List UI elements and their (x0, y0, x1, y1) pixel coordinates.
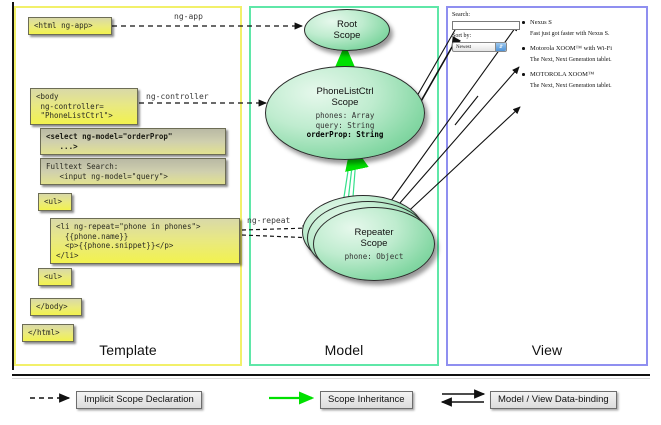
scope-phonelistctrl-props: phones: Array query: String (316, 111, 375, 130)
code-html-close-tag: </html> (22, 324, 74, 342)
bullet-icon (522, 47, 525, 50)
code-html-open-tag: <html ng-app> (28, 17, 112, 35)
phone-name: Motorola XOOM™ with Wi-Fi (522, 44, 642, 53)
scope-repeater: Repeater Scope phone: Object (313, 207, 435, 281)
scope-phonelistctrl: PhoneListCtrl Scope phones: Array query:… (265, 66, 425, 160)
phone-list: Nexus S Fast just got faster with Nexus … (522, 18, 642, 96)
code-ul-open-tag: <ul> (38, 193, 72, 211)
phone-name: Nexus S (522, 18, 642, 27)
search-input[interactable] (452, 21, 520, 30)
list-item: Motorola XOOM™ with Wi-Fi The Next, Next… (522, 44, 642, 64)
sort-by-select[interactable]: Newest ⇵ (452, 42, 507, 52)
scope-repeater-title: Repeater Scope (354, 227, 393, 249)
scope-repeater-props: phone: Object (345, 252, 404, 262)
scope-phonelistctrl-title: PhoneListCtrl Scope (316, 86, 373, 108)
legend-separator-rule-shadow (12, 378, 650, 379)
scope-root-title: Root Scope (334, 19, 361, 41)
bullet-icon (522, 73, 525, 76)
diagram-canvas: Template Model View (0, 0, 661, 425)
legend-label-model-view-data-binding: Model / View Data-binding (490, 391, 617, 409)
code-fulltext-search: Fulltext Search: <input ng-model="query"… (40, 158, 226, 185)
list-item: Nexus S Fast just got faster with Nexus … (522, 18, 642, 38)
phone-snippet: The Next, Next Generation tablet. (522, 82, 642, 90)
chevron-updown-icon: ⇵ (495, 43, 506, 51)
arrow-ng-repeat-a (242, 228, 309, 230)
sort-by-selected-value: Newest (456, 45, 471, 50)
legend-label-implicit-scope-declaration: Implicit Scope Declaration (76, 391, 202, 409)
code-body-controller-tag: <body ng-controller= "PhoneListCtrl"> (30, 88, 138, 125)
list-item: MOTOROLA XOOM™ The Next, Next Generation… (522, 70, 642, 90)
label-ng-controller: ng-controller (146, 92, 209, 101)
label-ng-repeat: ng-repeat (247, 216, 290, 225)
sort-by-label: Sort by: (452, 33, 471, 39)
legend-label-scope-inheritance: Scope Inheritance (320, 391, 413, 409)
label-ng-app: ng-app (174, 12, 203, 21)
phone-name: MOTOROLA XOOM™ (522, 70, 642, 79)
phone-snippet: Fast just got faster with Nexus S. (522, 30, 642, 38)
code-li-ng-repeat: <li ng-repeat="phone in phones"> {{phone… (50, 218, 240, 264)
code-select-orderprop: <select ng-model="orderProp" ...> (40, 128, 226, 155)
bullet-icon (522, 21, 525, 24)
search-label: Search: (452, 12, 470, 18)
view-rendered-app: Search: Sort by: Newest ⇵ Nexus S Fast j… (452, 12, 642, 122)
scope-phonelistctrl-props-bold: orderProp: String (307, 130, 384, 140)
legend-separator-rule (12, 374, 650, 376)
phone-snippet: The Next, Next Generation tablet. (522, 56, 642, 64)
code-body-close-tag: </body> (30, 298, 82, 316)
code-ul-close-tag: <ul> (38, 268, 72, 286)
scope-root: Root Scope (304, 9, 390, 51)
legend: Implicit Scope Declaration Scope Inherit… (12, 384, 650, 418)
